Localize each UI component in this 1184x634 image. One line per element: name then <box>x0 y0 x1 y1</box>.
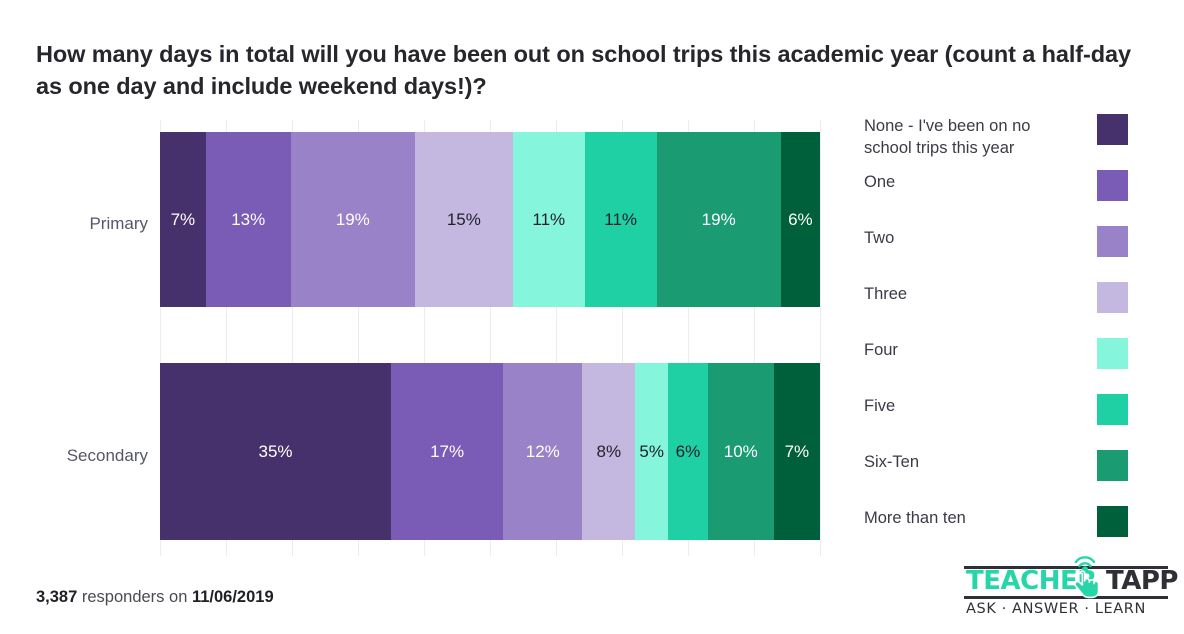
bar-segment-label: 19% <box>702 211 736 228</box>
bar-segment-label: 17% <box>430 443 464 460</box>
bar-segment: 10% <box>708 363 774 540</box>
legend-item-label: More than ten <box>864 506 1076 530</box>
legend-item[interactable]: None - I've been on no school trips this… <box>864 114 1144 170</box>
legend-color-swatch <box>1097 170 1128 201</box>
gridline <box>820 120 821 556</box>
legend-item[interactable]: Three <box>864 282 1144 338</box>
bar-segment-label: 5% <box>639 443 664 460</box>
legend-item-label: Two <box>864 226 1076 250</box>
legend-color-swatch <box>1097 450 1128 481</box>
legend-item[interactable]: Four <box>864 338 1144 394</box>
bar-segment-label: 7% <box>785 443 810 460</box>
bar-segment: 13% <box>206 132 291 307</box>
chart-legend: None - I've been on no school trips this… <box>864 114 1144 562</box>
bar-segment-label: 11% <box>604 211 637 228</box>
bar-segment: 19% <box>657 132 781 307</box>
bar-segment: 11% <box>513 132 585 307</box>
legend-item-label: Four <box>864 338 1076 362</box>
bar-segment-label: 11% <box>532 211 565 228</box>
legend-color-swatch <box>1097 394 1128 425</box>
bar-segment: 8% <box>582 363 635 540</box>
bar-segment-label: 15% <box>447 211 481 228</box>
bar-segment: 7% <box>160 132 206 307</box>
y-axis-label-secondary: Secondary <box>8 446 148 466</box>
bar-segment-label: 6% <box>676 443 701 460</box>
legend-color-swatch <box>1097 226 1128 257</box>
logo-tagline: ASK · ANSWER · LEARN <box>966 601 1146 617</box>
legend-item-label: Five <box>864 394 1076 418</box>
bar-segment-label: 6% <box>788 211 813 228</box>
legend-item[interactable]: Six-Ten <box>864 450 1144 506</box>
bar-segment: 6% <box>668 363 708 540</box>
bar-segment-label: 19% <box>336 211 370 228</box>
y-axis-labels: Primary Secondary <box>0 120 148 556</box>
legend-item-label: None - I've been on no school trips this… <box>864 114 1076 160</box>
legend-color-swatch <box>1097 282 1128 313</box>
teacher-tapp-logo: TEACHER TAPP ASK · ANSWER · LEARN <box>958 560 1174 620</box>
bar-segment: 17% <box>391 363 503 540</box>
bar-segment-label: 7% <box>171 211 196 228</box>
legend-color-swatch <box>1097 506 1128 537</box>
responders-text: responders on <box>77 588 192 606</box>
legend-item-label: Six-Ten <box>864 450 1076 474</box>
responders-date: 11/06/2019 <box>192 588 274 606</box>
bar-segment: 12% <box>503 363 582 540</box>
legend-item-label: One <box>864 170 1076 194</box>
bar-segment: 5% <box>635 363 668 540</box>
bar-segment-label: 13% <box>231 211 265 228</box>
tap-hand-icon <box>1062 556 1108 602</box>
responders-count: 3,387 <box>36 588 77 606</box>
responders-note: 3,387 responders on 11/06/2019 <box>36 588 274 607</box>
legend-item-label: Three <box>864 282 1076 306</box>
bar-segment: 15% <box>415 132 513 307</box>
bar-segment-label: 8% <box>596 443 621 460</box>
bar-segment: 7% <box>774 363 820 540</box>
legend-color-swatch <box>1097 338 1128 369</box>
legend-item[interactable]: Two <box>864 226 1144 282</box>
page-title: How many days in total will you have bee… <box>36 38 1161 102</box>
bar-segment: 35% <box>160 363 391 540</box>
stacked-bar-primary: 7%13%19%15%11%11%19%6% <box>160 132 820 307</box>
bar-segment-label: 10% <box>724 443 758 460</box>
bar-segment-label: 35% <box>258 443 292 460</box>
legend-item[interactable]: Five <box>864 394 1144 450</box>
logo-word-tapp: TAPP <box>1106 568 1178 594</box>
y-axis-label-primary: Primary <box>8 214 148 234</box>
bar-segment: 19% <box>291 132 415 307</box>
stacked-bar-secondary: 35%17%12%8%5%6%10%7% <box>160 363 820 540</box>
bar-segment: 11% <box>585 132 657 307</box>
legend-item[interactable]: One <box>864 170 1144 226</box>
legend-color-swatch <box>1097 114 1128 145</box>
chart-plot-area: 7%13%19%15%11%11%19%6% 35%17%12%8%5%6%10… <box>160 120 820 556</box>
legend-item[interactable]: More than ten <box>864 506 1144 562</box>
bar-segment: 6% <box>781 132 820 307</box>
bar-segment-label: 12% <box>526 443 560 460</box>
